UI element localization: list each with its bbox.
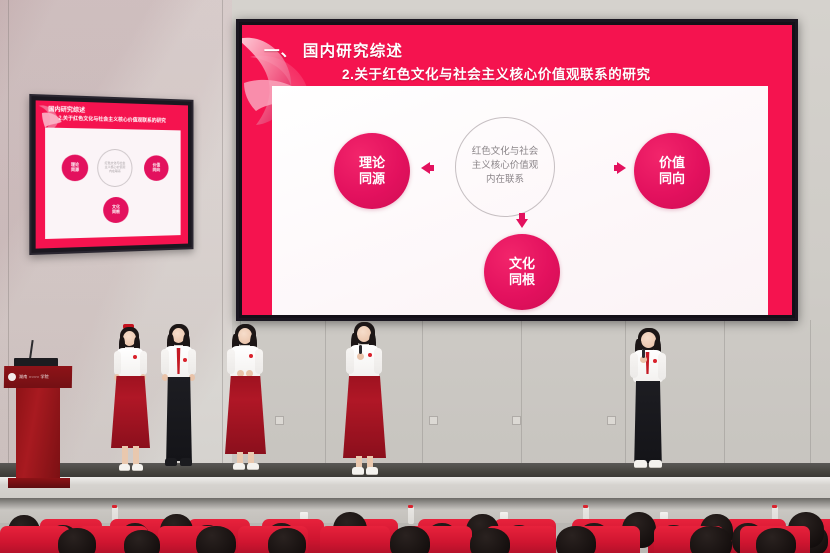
podium-logo: 湖南 ○○○○ 学院: [8, 371, 68, 382]
wall-outlet-icon: [275, 416, 284, 425]
badge-icon: [249, 354, 253, 358]
presenter-4: [340, 320, 392, 484]
center-line-3: 内在联系: [462, 174, 548, 188]
microphone[interactable]: [359, 345, 362, 354]
shoe: [352, 467, 364, 475]
audience-head: [124, 530, 160, 553]
podium-body: [16, 388, 60, 484]
badge-icon: [368, 353, 372, 357]
preview-monitor[interactable]: 国内研究综述 2.关于红色文化与社会主义核心价值观联系的研究 理论 同源 价值 …: [29, 94, 193, 255]
wall-outlet-icon: [512, 416, 521, 425]
arm: [140, 351, 147, 375]
podium-base: [8, 478, 70, 488]
audience-head: [196, 526, 236, 553]
arm: [114, 351, 121, 375]
hand: [357, 353, 364, 360]
shoe: [233, 463, 245, 470]
audience-head: [756, 528, 796, 553]
shoe: [165, 458, 177, 466]
slide-title-primary: 一、 国内研究综述: [264, 39, 403, 61]
preview-bubble-bottom: 文化 同根: [103, 197, 128, 223]
center-line-2: 主义核心价值观: [462, 160, 548, 174]
arm: [630, 353, 638, 378]
audience-head: [268, 528, 306, 553]
hand: [237, 370, 244, 377]
shoe: [649, 460, 662, 468]
audience-head: [470, 528, 510, 553]
presenter-3: [222, 322, 272, 482]
arm: [227, 349, 235, 374]
wall-outlet-icon: [607, 416, 616, 425]
shoe: [119, 464, 130, 471]
badge-icon: [653, 359, 657, 363]
preview-bubble-left: 理论 同源: [62, 155, 88, 182]
hand: [246, 370, 253, 377]
trousers: [633, 381, 663, 463]
podium-logo-text: 湖南 ○○○○ 学院: [19, 374, 49, 380]
shoe: [366, 467, 378, 475]
preview-title-primary: 国内研究综述: [48, 104, 85, 114]
presenter-2: [156, 322, 204, 482]
skirt: [111, 376, 150, 448]
preview-diagram-card: 理论 同源 价值 同向 文化 同根 红色文化与社会 主义核心价值观 内在联系: [45, 128, 181, 239]
main-led-screen[interactable]: 一、 国内研究综述 2.关于红色文化与社会主义核心价值观联系的研究 理论 同源 …: [236, 19, 798, 321]
presenter-5: [625, 326, 677, 486]
preview-center-circle: 红色文化与社会 主义核心价值观 内在联系: [97, 149, 132, 187]
leg: [122, 446, 128, 466]
preview-bubble-right: 价值 同向: [144, 155, 169, 181]
shoe: [180, 458, 192, 466]
diagram-bubble-bottom: 文化 同根: [484, 234, 560, 310]
diagram-bubble-right: 价值 同向: [634, 133, 710, 209]
diagram-center-circle: 红色文化与社会 主义核心价值观 内在联系: [455, 117, 555, 217]
arrow-left-icon: [421, 162, 430, 174]
audience-head: [58, 528, 96, 553]
trousers: [165, 377, 193, 461]
arrow-down-icon: [516, 219, 528, 228]
diagram-bubble-left: 理论 同源: [334, 133, 410, 209]
audience-head: [690, 526, 732, 553]
shoe: [132, 464, 143, 471]
school-crest-icon: [8, 373, 16, 381]
arm: [255, 349, 263, 374]
audience-head: [390, 526, 430, 553]
arm: [658, 353, 666, 380]
shoe: [247, 463, 259, 470]
slide-title-secondary: 2.关于红色文化与社会主义核心价值观联系的研究: [342, 63, 651, 83]
arm: [374, 348, 382, 374]
center-line-1: 红色文化与社会: [462, 146, 548, 160]
arm: [188, 349, 196, 375]
slide-diagram-card: 理论 同源 价值 同向 文化 同根 红色文化与社会 主义核心价值观 内在联系: [272, 86, 768, 315]
leg: [133, 446, 139, 466]
wall-outlet-icon: [429, 416, 438, 425]
badge-icon: [183, 358, 187, 362]
audience-row-3: [0, 524, 830, 553]
seat: [320, 526, 390, 553]
auditorium-scene: 一、 国内研究综述 2.关于红色文化与社会主义核心价值观联系的研究 理论 同源 …: [0, 0, 830, 553]
skirt: [343, 376, 386, 458]
presentation-slide: 一、 国内研究综述 2.关于红色文化与社会主义核心价值观联系的研究 理论 同源 …: [242, 25, 792, 315]
skirt: [225, 376, 266, 454]
arm: [346, 348, 354, 374]
shoe: [634, 460, 647, 468]
badge-icon: [133, 355, 137, 359]
audience-head: [556, 526, 596, 553]
preview-slide: 国内研究综述 2.关于红色文化与社会主义核心价值观联系的研究 理论 同源 价值 …: [36, 100, 188, 248]
presenter-1: [108, 324, 156, 482]
microphone[interactable]: [642, 349, 645, 358]
arm: [161, 349, 169, 375]
arrow-right-icon: [617, 162, 626, 174]
hand: [162, 374, 168, 381]
preview-title-secondary: 2.关于红色文化与社会主义核心价值观联系的研究: [59, 114, 166, 124]
